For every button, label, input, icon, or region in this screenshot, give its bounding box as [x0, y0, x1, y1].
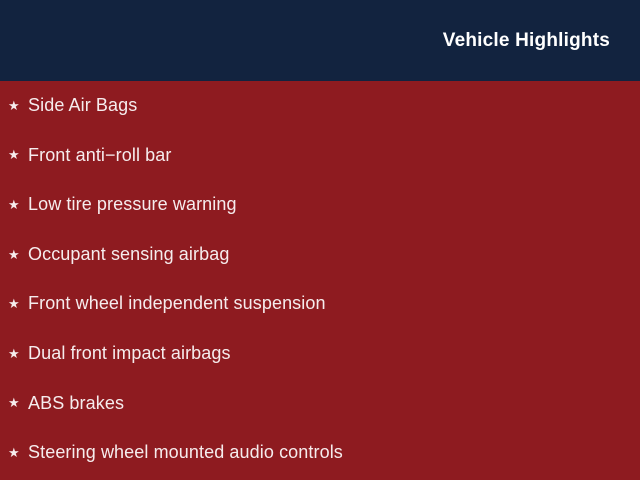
list-item: ★ ABS brakes — [0, 379, 640, 429]
slide-header: Vehicle Highlights — [0, 0, 640, 81]
list-item-label: ABS brakes — [28, 393, 124, 415]
list-item-label: Front wheel independent suspension — [28, 293, 326, 315]
list-item: ★ Occupant sensing airbag — [0, 230, 640, 280]
star-icon: ★ — [8, 396, 28, 409]
list-item-label: Low tire pressure warning — [28, 194, 237, 216]
list-item-label: Side Air Bags — [28, 95, 137, 117]
list-item: ★ Side Air Bags — [0, 81, 640, 131]
list-item: ★ Front anti−roll bar — [0, 131, 640, 181]
list-item: ★ Dual front impact airbags — [0, 329, 640, 379]
star-icon: ★ — [8, 248, 28, 261]
star-icon: ★ — [8, 297, 28, 310]
list-item-label: Dual front impact airbags — [28, 343, 231, 365]
list-item-label: Occupant sensing airbag — [28, 244, 229, 266]
star-icon: ★ — [8, 148, 28, 161]
highlights-body: ★ Side Air Bags ★ Front anti−roll bar ★ … — [0, 81, 640, 480]
list-item: ★ Front wheel independent suspension — [0, 279, 640, 329]
vehicle-highlights-list: ★ Side Air Bags ★ Front anti−roll bar ★ … — [0, 81, 640, 478]
list-item-label: Front anti−roll bar — [28, 145, 171, 167]
star-icon: ★ — [8, 347, 28, 360]
star-icon: ★ — [8, 446, 28, 459]
vehicle-highlights-slide: Vehicle Highlights ★ Side Air Bags ★ Fro… — [0, 0, 640, 480]
page-title: Vehicle Highlights — [443, 31, 610, 50]
star-icon: ★ — [8, 198, 28, 211]
list-item: ★ Low tire pressure warning — [0, 180, 640, 230]
star-icon: ★ — [8, 99, 28, 112]
list-item-label: Steering wheel mounted audio controls — [28, 442, 343, 464]
list-item: ★ Steering wheel mounted audio controls — [0, 428, 640, 478]
